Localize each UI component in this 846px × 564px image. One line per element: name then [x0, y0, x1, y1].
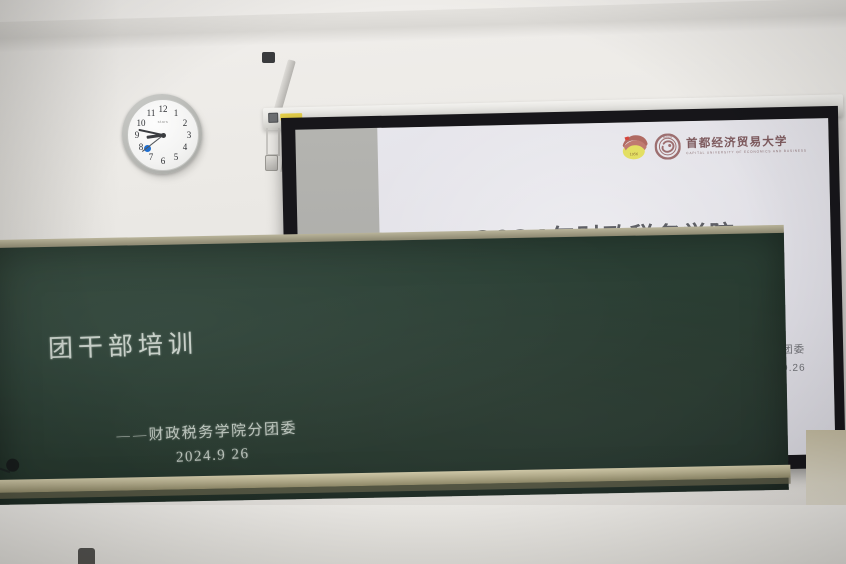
clock-numeral: 12 — [157, 103, 169, 115]
lower-wall-object — [78, 548, 95, 564]
logo-emblem-icon: 1956 — [620, 134, 651, 161]
screen-mount-hook — [265, 155, 278, 171]
green-chalkboard: 团干部培训 ——财政税务学院分团委 2024.9 26 — [0, 232, 789, 505]
clock-numeral: 6 — [157, 155, 169, 167]
housing-endcap-icon — [268, 113, 278, 123]
clock-numeral: 11 — [145, 107, 157, 119]
screen-mount-bracket — [266, 128, 280, 156]
chalk-title: 团干部培训 — [47, 324, 198, 365]
clock-center-cap — [161, 133, 166, 138]
projector-mount-plate — [262, 52, 275, 63]
classroom-scene: stars 12 1 2 3 4 5 6 7 8 9 10 11 — [0, 0, 846, 564]
clock-face: stars 12 1 2 3 4 5 6 7 8 9 10 11 — [127, 99, 199, 171]
clock-numeral: 5 — [170, 151, 182, 163]
chalkboard-texture — [0, 232, 789, 505]
wall-shadow-left — [0, 0, 120, 250]
logo-seal-icon: 首都经贸 — [655, 133, 682, 160]
svg-text:1956: 1956 — [630, 152, 639, 156]
wall-clock: stars 12 1 2 3 4 5 6 7 8 9 10 11 — [122, 94, 204, 178]
clock-numeral: 3 — [183, 129, 195, 141]
university-logo: 1956 首都经贸 首都经济贸易大学 CAPITAL UNIVERSITY OF… — [620, 131, 807, 161]
lower-wall — [0, 505, 846, 564]
clock-numeral: 2 — [179, 117, 191, 129]
svg-text:首都经贸: 首都经贸 — [663, 135, 673, 139]
logo-text-block: 首都经济贸易大学 CAPITAL UNIVERSITY OF ECONOMICS… — [686, 135, 807, 155]
